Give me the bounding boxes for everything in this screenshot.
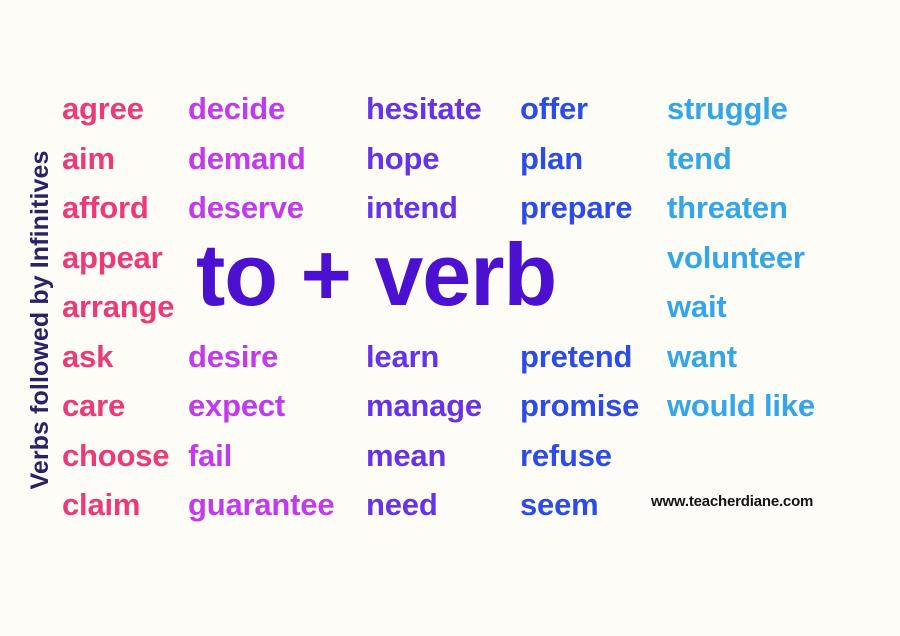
verb-word: promise: [520, 381, 639, 431]
verb-word: guarantee: [188, 480, 334, 530]
verb-word: hope: [366, 134, 482, 184]
verb-spacer: [667, 431, 815, 481]
verb-word: choose: [62, 431, 174, 481]
verb-word: fail: [188, 431, 334, 481]
verb-word: learn: [366, 332, 482, 382]
verb-word: arrange: [62, 282, 174, 332]
verb-word: appear: [62, 233, 174, 283]
verb-word: would like: [667, 381, 815, 431]
verb-word: offer: [520, 84, 639, 134]
verb-word: refuse: [520, 431, 639, 481]
verb-word: ask: [62, 332, 174, 382]
verb-word: need: [366, 480, 482, 530]
poster-side-title: Verbs followed by Infinitives: [23, 105, 57, 535]
verb-word: care: [62, 381, 174, 431]
verb-word: plan: [520, 134, 639, 184]
verb-word: pretend: [520, 332, 639, 382]
side-title-container: Verbs followed by Infinitives: [0, 0, 56, 636]
verb-word: wait: [667, 282, 815, 332]
verb-word: agree: [62, 84, 174, 134]
verb-word: afford: [62, 183, 174, 233]
verb-word: volunteer: [667, 233, 815, 283]
verb-word: seem: [520, 480, 639, 530]
verb-word: manage: [366, 381, 482, 431]
verb-word: demand: [188, 134, 334, 184]
verb-column-5: struggletendthreatenvolunteerwaitwantwou…: [667, 84, 815, 530]
infinitive-verbs-poster: Verbs followed by Infinitives agreeaimaf…: [0, 0, 900, 636]
website-credit: www.teacherdiane.com: [651, 492, 813, 512]
verb-word: want: [667, 332, 815, 382]
verb-word: decide: [188, 84, 334, 134]
verb-word: threaten: [667, 183, 815, 233]
verb-word: struggle: [667, 84, 815, 134]
verb-word: desire: [188, 332, 334, 382]
verb-word: claim: [62, 480, 174, 530]
verb-word: mean: [366, 431, 482, 481]
verb-word: hesitate: [366, 84, 482, 134]
verb-word: aim: [62, 134, 174, 184]
verb-word: expect: [188, 381, 334, 431]
verb-word: tend: [667, 134, 815, 184]
center-phrase-to-plus-verb: to + verb: [196, 222, 556, 327]
verb-column-1: agreeaimaffordappeararrangeaskcarechoose…: [62, 84, 174, 530]
